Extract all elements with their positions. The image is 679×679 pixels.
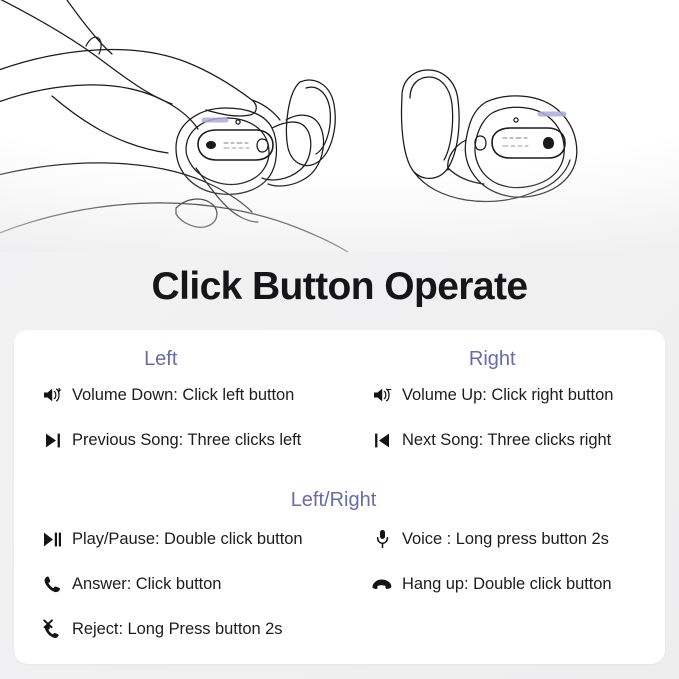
phone-answer-icon bbox=[41, 573, 63, 595]
volume-down-icon bbox=[41, 384, 63, 406]
product-instruction-page: Click Button Operate Left Right bbox=[0, 0, 679, 679]
instruction-item-reject: Reject: Long Press button 2s bbox=[14, 618, 344, 640]
combined-instruction-rows: Play/Pause: Double click button Voice : … bbox=[14, 528, 665, 663]
instruction-text: Answer: Click button bbox=[72, 573, 221, 595]
hero-illustration bbox=[0, 0, 679, 252]
section-heading-left-right-wrapper: Left/Right bbox=[8, 487, 659, 513]
instruction-text: Previous Song: Three clicks left bbox=[72, 429, 301, 451]
instruction-text: Reject: Long Press button 2s bbox=[72, 618, 282, 640]
phone-hangup-icon bbox=[371, 573, 393, 595]
instruction-row: Volume Down: Click left button Volume Up… bbox=[14, 384, 665, 429]
right-earbud-drawing bbox=[402, 70, 577, 202]
instruction-text: Voice : Long press button 2s bbox=[402, 528, 609, 550]
next-song-icon bbox=[371, 429, 393, 451]
instruction-text: Hang up: Double click button bbox=[402, 573, 612, 595]
instruction-row: Reject: Long Press button 2s bbox=[14, 618, 665, 663]
section-heading-right: Right bbox=[330, 346, 656, 372]
earbuds-line-drawing bbox=[0, 0, 679, 252]
column-headings: Left Right bbox=[14, 346, 665, 372]
instruction-text: Play/Pause: Double click button bbox=[72, 528, 303, 550]
instruction-item-volume-up: Volume Up: Click right button bbox=[344, 384, 665, 406]
instruction-item-answer: Answer: Click button bbox=[14, 573, 344, 595]
instruction-item-previous-song: Previous Song: Three clicks left bbox=[14, 429, 344, 451]
paired-instruction-rows: Volume Down: Click left button Volume Up… bbox=[14, 384, 665, 474]
page-title: Click Button Operate bbox=[0, 262, 679, 312]
instruction-text: Next Song: Three clicks right bbox=[402, 429, 611, 451]
instruction-item-volume-down: Volume Down: Click left button bbox=[14, 384, 344, 406]
section-heading-left: Left bbox=[0, 346, 324, 372]
instruction-row: Play/Pause: Double click button Voice : … bbox=[14, 528, 665, 573]
instruction-item-voice: Voice : Long press button 2s bbox=[344, 528, 665, 550]
play-pause-icon bbox=[41, 528, 63, 550]
instruction-row: Previous Song: Three clicks left Next So… bbox=[14, 429, 665, 474]
phone-reject-icon bbox=[41, 618, 63, 640]
volume-up-icon bbox=[371, 384, 393, 406]
instruction-item-next-song: Next Song: Three clicks right bbox=[344, 429, 665, 451]
instruction-text: Volume Up: Click right button bbox=[402, 384, 613, 406]
previous-song-icon bbox=[41, 429, 63, 451]
instruction-text: Volume Down: Click left button bbox=[72, 384, 294, 406]
microphone-icon bbox=[371, 528, 393, 550]
instruction-item-play-pause: Play/Pause: Double click button bbox=[14, 528, 344, 550]
instruction-item-hang-up: Hang up: Double click button bbox=[344, 573, 665, 595]
instruction-row: Answer: Click button Hang up: Double cli… bbox=[14, 573, 665, 618]
instructions-card: Left Right Volume Down: Click left butto… bbox=[14, 330, 665, 664]
section-heading-left-right: Left/Right bbox=[8, 487, 659, 513]
